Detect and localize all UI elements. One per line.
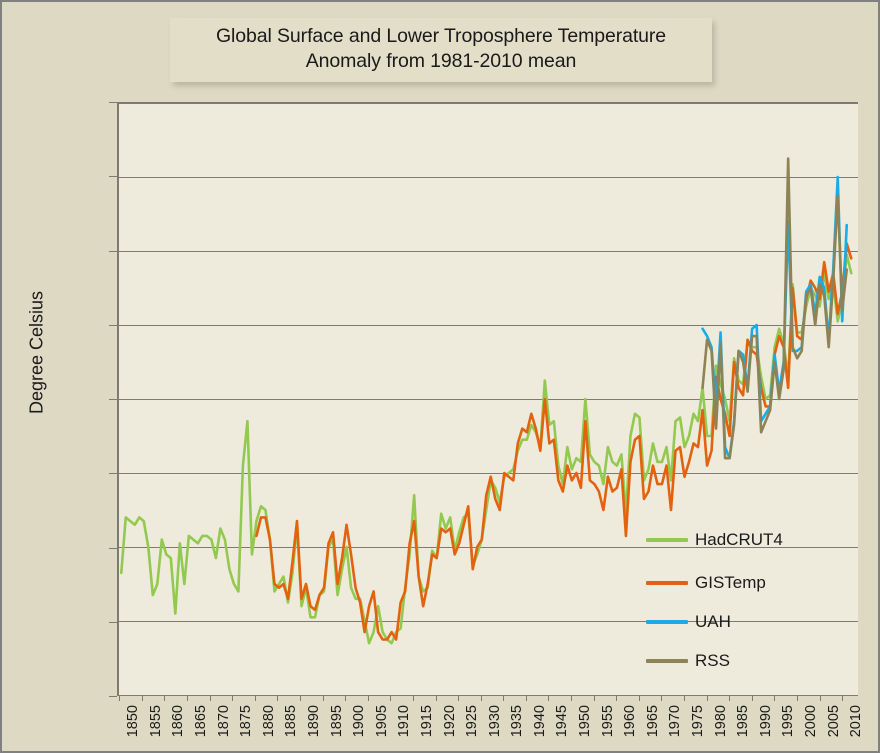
x-tick-label: 1970 <box>667 705 683 737</box>
x-tick-label: 1985 <box>735 705 751 737</box>
x-tick-mark <box>390 696 391 701</box>
x-tick-label: 1935 <box>509 705 525 737</box>
x-tick-mark <box>842 696 843 701</box>
x-tick-mark <box>797 696 798 701</box>
x-tick-label: 1850 <box>125 705 141 737</box>
x-tick-mark <box>232 696 233 701</box>
chart-container: Global Surface and Lower Troposphere Tem… <box>0 0 880 753</box>
chart-title: Global Surface and Lower Troposphere Tem… <box>170 18 712 82</box>
x-tick-mark <box>255 696 256 701</box>
x-tick-mark <box>594 696 595 701</box>
y-tick-mark <box>109 102 117 103</box>
chart-title-line-1: Global Surface and Lower Troposphere Tem… <box>178 24 704 49</box>
x-tick-label: 1900 <box>351 705 367 737</box>
x-tick-label: 1880 <box>261 705 277 737</box>
y-tick-mark <box>109 622 117 623</box>
x-tick-mark <box>187 696 188 701</box>
x-tick-label: 1910 <box>396 705 412 737</box>
x-tick-label: 2000 <box>803 705 819 737</box>
x-tick-label: 1960 <box>622 705 638 737</box>
x-tick-mark <box>571 696 572 701</box>
x-tick-mark <box>639 696 640 701</box>
x-tick-mark <box>616 696 617 701</box>
x-tick-mark <box>707 696 708 701</box>
x-tick-mark <box>323 696 324 701</box>
x-tick-label: 1855 <box>148 705 164 737</box>
x-tick-mark <box>119 696 120 701</box>
x-tick-label: 2005 <box>826 705 842 737</box>
x-tick-mark <box>164 696 165 701</box>
x-tick-mark <box>774 696 775 701</box>
x-tick-label: 1995 <box>780 705 796 737</box>
y-tick-mark <box>109 399 117 400</box>
y-tick-mark <box>109 548 117 549</box>
x-tick-mark <box>820 696 821 701</box>
x-tick-mark <box>368 696 369 701</box>
x-tick-label: 1955 <box>600 705 616 737</box>
x-tick-mark <box>277 696 278 701</box>
x-tick-mark <box>210 696 211 701</box>
data-series-layer <box>119 103 858 695</box>
x-tick-label: 1895 <box>329 705 345 737</box>
x-tick-label: 1905 <box>374 705 390 737</box>
y-tick-mark <box>109 473 117 474</box>
x-tick-label: 1945 <box>554 705 570 737</box>
x-tick-mark <box>481 696 482 701</box>
x-tick-mark <box>458 696 459 701</box>
x-tick-label: 1920 <box>442 705 458 737</box>
chart-title-line-2: Anomaly from 1981-2010 mean <box>178 49 704 74</box>
x-tick-label: 1860 <box>170 705 186 737</box>
x-tick-mark <box>503 696 504 701</box>
x-tick-mark <box>729 696 730 701</box>
x-tick-mark <box>142 696 143 701</box>
x-tick-label: 1890 <box>306 705 322 737</box>
x-tick-mark <box>436 696 437 701</box>
x-tick-label: 1965 <box>645 705 661 737</box>
x-tick-label: 1950 <box>577 705 593 737</box>
x-tick-label: 1865 <box>193 705 209 737</box>
series-line-gistemp <box>256 244 851 640</box>
x-tick-mark <box>684 696 685 701</box>
x-tick-label: 1875 <box>238 705 254 737</box>
x-tick-label: 2010 <box>848 705 864 737</box>
x-tick-mark <box>413 696 414 701</box>
y-tick-mark <box>109 176 117 177</box>
x-tick-label: 1925 <box>464 705 480 737</box>
x-tick-label: 1980 <box>713 705 729 737</box>
series-line-rss <box>703 159 847 459</box>
y-tick-mark <box>109 696 117 697</box>
x-tick-mark <box>548 696 549 701</box>
plot-area <box>117 102 858 696</box>
x-tick-label: 1975 <box>690 705 706 737</box>
x-tick-label: 1870 <box>216 705 232 737</box>
x-tick-label: 1885 <box>283 705 299 737</box>
x-tick-mark <box>300 696 301 701</box>
x-tick-mark <box>661 696 662 701</box>
series-line-hadcrut4 <box>121 255 851 643</box>
x-tick-label: 1915 <box>419 705 435 737</box>
x-tick-label: 1990 <box>758 705 774 737</box>
y-tick-mark <box>109 251 117 252</box>
x-tick-mark <box>345 696 346 701</box>
y-axis-title: Degree Celsius <box>27 143 48 563</box>
x-tick-mark <box>526 696 527 701</box>
y-tick-mark <box>109 325 117 326</box>
x-tick-label: 1930 <box>487 705 503 737</box>
x-tick-mark <box>752 696 753 701</box>
x-tick-label: 1940 <box>532 705 548 737</box>
